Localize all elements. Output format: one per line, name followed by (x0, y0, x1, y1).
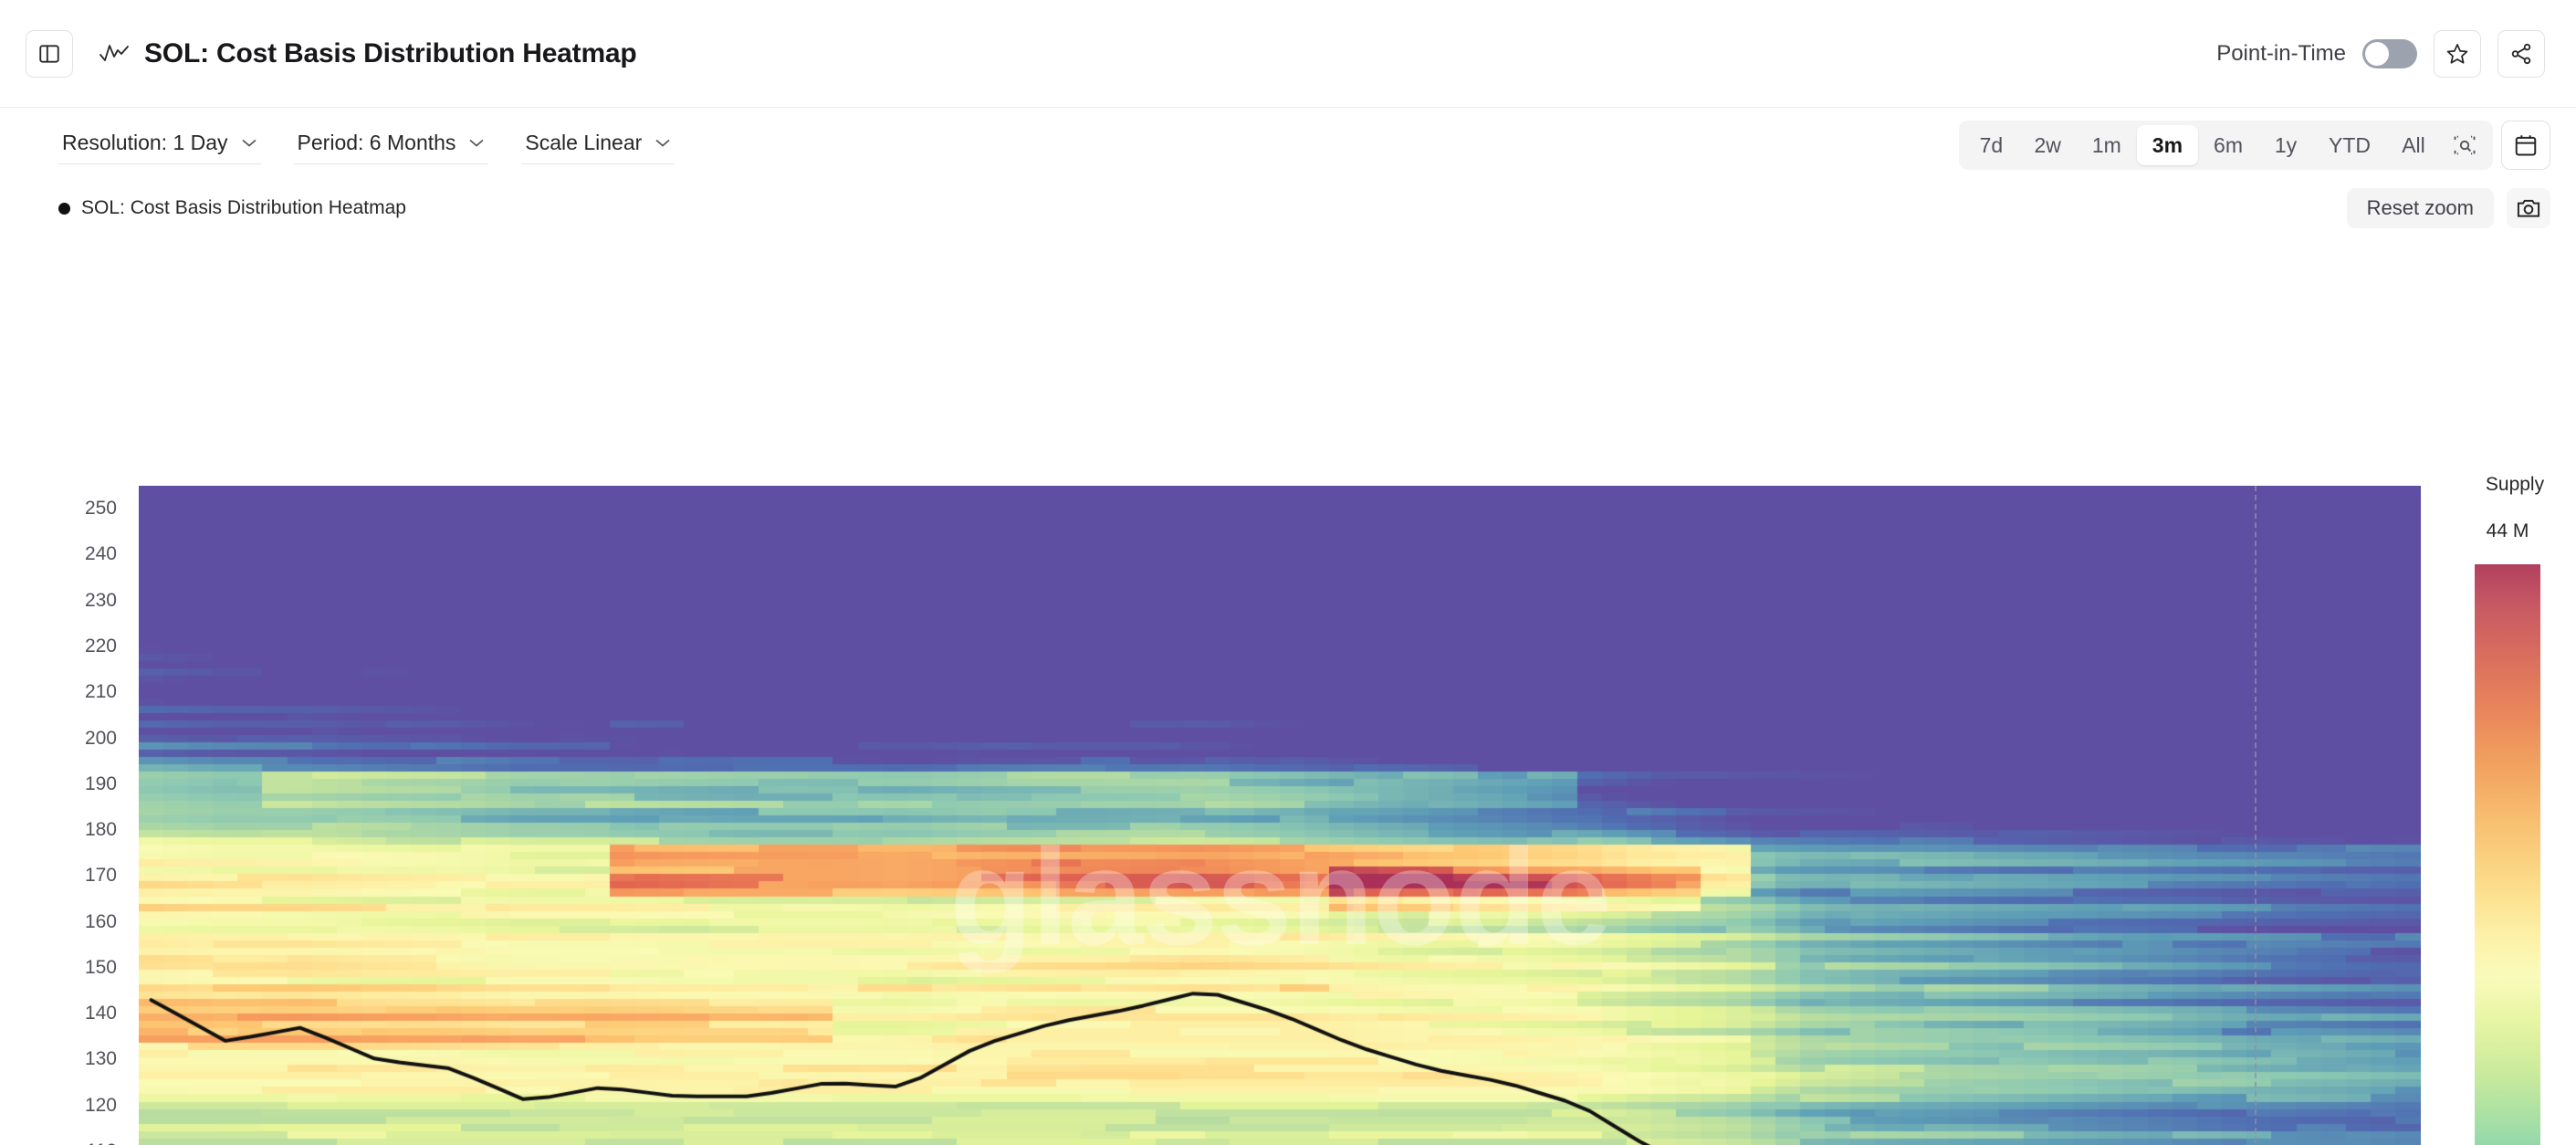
panel-icon (37, 42, 61, 66)
y-axis-tick: 230 (85, 590, 117, 612)
colorbar-max-label: 44 M (2454, 520, 2561, 542)
toggle-knob (2365, 42, 2389, 66)
y-axis-tick: 170 (85, 865, 117, 887)
period-dropdown[interactable]: Period: 6 Months (294, 127, 489, 164)
calendar-icon (2513, 132, 2539, 158)
resolution-dropdown-label: Resolution: 1 Day (62, 131, 228, 155)
crosshair-vertical (2255, 486, 2257, 1145)
y-axis-tick: 210 (85, 681, 117, 703)
scale-dropdown-label: Scale Linear (525, 131, 642, 155)
y-axis: 2502402302202102001901801701601501401301… (0, 486, 128, 1145)
colorbar-legend: Supply 44 M 59 K (2454, 486, 2576, 1145)
chart-toolbar: Resolution: 1 Day Period: 6 Months Scale… (0, 108, 2576, 183)
screenshot-button[interactable] (2507, 188, 2550, 228)
colorbar-title: Supply (2454, 474, 2576, 496)
heatmap-plot-area[interactable] (139, 486, 2421, 1145)
y-axis-tick: 120 (85, 1095, 117, 1117)
favorite-button[interactable] (2434, 30, 2481, 78)
y-axis-tick: 130 (85, 1048, 117, 1070)
chart-header: SOL: Cost Basis Distribution Heatmap Res… (0, 188, 2576, 228)
chart-container: 2502402302202102001901801701601501401301… (0, 228, 2576, 1141)
camera-icon (2516, 196, 2541, 220)
y-axis-tick: 140 (85, 1003, 117, 1024)
chevron-down-icon (241, 138, 257, 148)
series-legend-label: SOL: Cost Basis Distribution Heatmap (81, 197, 406, 219)
point-in-time-toggle[interactable] (2362, 39, 2417, 68)
y-axis-tick: 150 (85, 957, 117, 979)
heatmap-canvas[interactable] (139, 486, 2421, 1145)
range-6m[interactable]: 6m (2198, 125, 2258, 165)
chevron-down-icon (654, 138, 671, 148)
zoom-select-icon (2452, 132, 2477, 158)
sidebar-panel-toggle[interactable] (26, 30, 73, 78)
y-axis-tick: 190 (85, 773, 117, 795)
range-1y[interactable]: 1y (2258, 125, 2313, 165)
reset-zoom-button[interactable]: Reset zoom (2347, 188, 2494, 228)
zoom-select-button[interactable] (2441, 125, 2488, 165)
y-axis-tick: 160 (85, 911, 117, 933)
app-header: SOL: Cost Basis Distribution Heatmap Poi… (0, 0, 2576, 108)
y-axis-tick: 110 (87, 1140, 117, 1145)
range-3m[interactable]: 3m (2137, 125, 2198, 165)
time-range-group: 7d 2w 1m 3m 6m 1y YTD All (1959, 121, 2493, 170)
y-axis-tick: 200 (85, 728, 117, 750)
range-1m[interactable]: 1m (2077, 125, 2137, 165)
period-dropdown-label: Period: 6 Months (298, 131, 456, 155)
y-axis-tick: 250 (85, 498, 117, 520)
y-axis-tick: 240 (85, 543, 117, 565)
y-axis-tick: 180 (85, 819, 117, 841)
page-title: SOL: Cost Basis Distribution Heatmap (144, 38, 637, 69)
date-picker-button[interactable] (2501, 121, 2550, 170)
scale-dropdown[interactable]: Scale Linear (521, 127, 675, 164)
y-axis-tick: 220 (85, 636, 117, 657)
share-button[interactable] (2497, 30, 2545, 78)
point-in-time-label: Point-in-Time (2216, 41, 2346, 67)
chevron-down-icon (468, 138, 485, 148)
range-7d[interactable]: 7d (1963, 125, 2018, 165)
colorbar-gradient (2475, 564, 2540, 1145)
range-all[interactable]: All (2386, 125, 2441, 165)
range-2w[interactable]: 2w (2018, 125, 2076, 165)
metric-line-icon (97, 38, 131, 69)
resolution-dropdown[interactable]: Resolution: 1 Day (58, 127, 261, 164)
star-icon (2445, 42, 2469, 66)
share-icon (2509, 42, 2533, 66)
range-ytd[interactable]: YTD (2313, 125, 2386, 165)
series-color-dot (58, 203, 70, 215)
series-legend-item[interactable]: SOL: Cost Basis Distribution Heatmap (58, 197, 406, 219)
